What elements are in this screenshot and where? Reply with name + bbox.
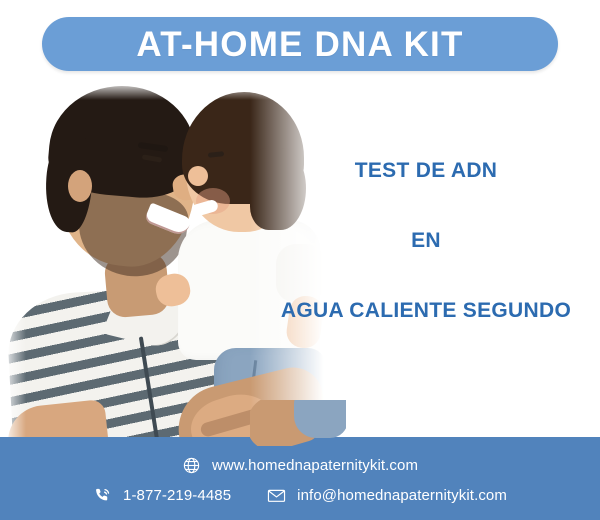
photo-footer-overlap (250, 400, 346, 446)
man-ear (68, 170, 92, 202)
envelope-icon (267, 486, 286, 505)
footer-bar: www.homednapaternitykit.com 1-877-219-44… (0, 437, 600, 520)
header-banner: AT-HOME DNA KIT (42, 17, 558, 71)
headline-line-1: TEST DE ADN (252, 160, 600, 181)
headline-line-3: AGUA CALIENTE SEGUNDO (252, 300, 600, 321)
website-contact[interactable]: www.homednapaternitykit.com (182, 456, 418, 475)
photo-edge-fade-top (0, 78, 330, 100)
email-label: info@homednapaternitykit.com (297, 488, 507, 503)
phone-label: 1-877-219-4485 (123, 488, 231, 503)
globe-icon (182, 456, 201, 475)
baby-nose (188, 166, 208, 186)
headline-line-2: EN (252, 230, 600, 251)
website-label: www.homednapaternitykit.com (212, 458, 418, 473)
phone-contact[interactable]: 1-877-219-4485 (93, 486, 231, 505)
email-contact[interactable]: info@homednapaternitykit.com (267, 486, 507, 505)
page-title: AT-HOME DNA KIT (136, 27, 463, 62)
baby-jeans-overlap (294, 400, 346, 438)
phone-icon (93, 486, 112, 505)
photo-edge-fade-left (0, 78, 26, 450)
footer-contact-row-website: www.homednapaternitykit.com (0, 456, 600, 475)
poster-canvas: AT-HOME DNA KIT (0, 0, 600, 520)
footer-contact-row-phone-email: 1-877-219-4485 info@homednapaternitykit.… (0, 486, 600, 505)
headline-block: TEST DE ADN EN AGUA CALIENTE SEGUNDO (252, 160, 600, 321)
